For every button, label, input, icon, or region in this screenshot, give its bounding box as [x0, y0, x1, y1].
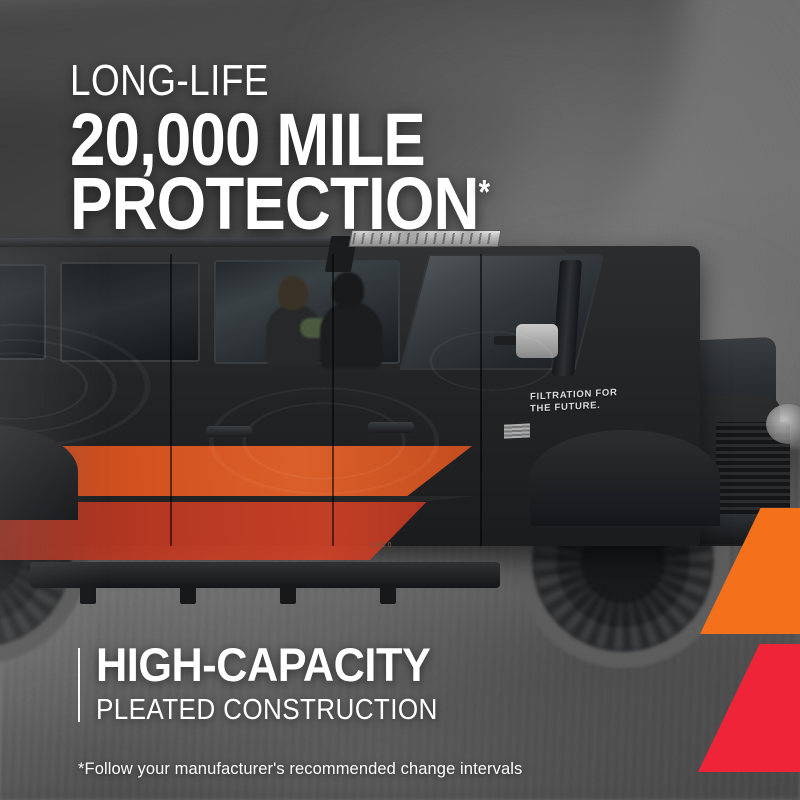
- rear-fender-arch: [0, 424, 78, 520]
- door-handle: [206, 426, 252, 437]
- page-title: 20,000 MILE PROTECTION*: [70, 108, 489, 236]
- middle-side-window: [60, 262, 200, 362]
- door-seam: [332, 254, 334, 546]
- driver-silhouette: [320, 302, 382, 368]
- headline-line-2: PROTECTION*: [70, 172, 489, 236]
- footnote-marker: *: [479, 173, 490, 211]
- filtration-for-the-future-decal: FILTRATION FOR THE FUTURE.: [530, 384, 670, 414]
- front-fender-arch: [530, 430, 720, 526]
- step-bracket: [180, 584, 196, 604]
- door-seam: [170, 254, 172, 546]
- driver-head: [332, 272, 364, 308]
- subheading-secondary: PLEATED CONSTRUCTION: [96, 694, 438, 726]
- door-seam: [480, 254, 482, 546]
- door-handle: [368, 422, 414, 433]
- step-bracket: [280, 584, 296, 604]
- side-mirror: [516, 324, 558, 358]
- vehicle-model-badge: 1800: [370, 542, 394, 549]
- kn-filter-advertisement: FILTRATION FOR THE FUTURE. 1800 K& N. LO…: [0, 0, 800, 800]
- passenger-head: [278, 276, 308, 310]
- subhead-divider-rule: [78, 648, 80, 722]
- rock-slider-step: [30, 562, 500, 588]
- footnote-text: *Follow your manufacturer's recommended …: [78, 760, 522, 779]
- offroad-suv-vehicle: FILTRATION FOR THE FUTURE. 1800 K& N.: [0, 246, 800, 666]
- subheading-primary: HIGH-CAPACITY: [96, 640, 430, 690]
- rear-side-window: [0, 264, 46, 360]
- step-bracket: [80, 584, 96, 604]
- vehicle-body: FILTRATION FOR THE FUTURE. 1800 K& N.: [0, 246, 700, 546]
- headline-line-2-text: PROTECTION: [70, 162, 479, 245]
- step-bracket: [380, 584, 396, 604]
- flag-decal: [504, 423, 530, 438]
